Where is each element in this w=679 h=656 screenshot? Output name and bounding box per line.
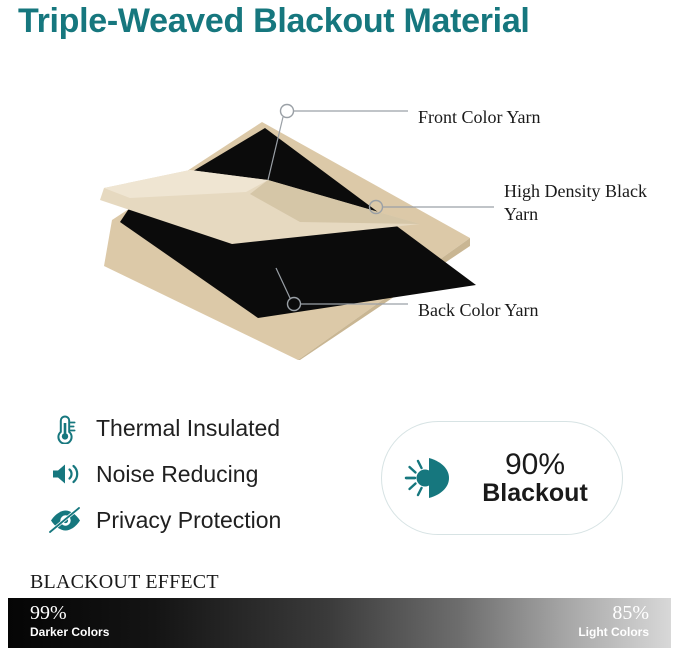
feature-label-thermal: Thermal Insulated bbox=[96, 415, 280, 442]
fabric-layers-diagram: Front Color Yarn High Density Black Yarn… bbox=[0, 70, 679, 360]
blackout-effect-left: 99% Darker Colors bbox=[30, 602, 109, 639]
light-colors-percent: 85% bbox=[578, 602, 649, 625]
darker-colors-label: Darker Colors bbox=[30, 625, 109, 639]
feature-list: Thermal Insulated Noise Reducing bbox=[48, 405, 378, 543]
blackout-effect-heading: BLACKOUT EFFECT bbox=[30, 571, 219, 594]
blackout-badge-text: 90% Blackout bbox=[456, 449, 622, 508]
blackout-effect-bar: 99% Darker Colors 85% Light Colors bbox=[8, 598, 671, 648]
blackout-badge: 90% Blackout bbox=[381, 421, 623, 535]
callout-label-back: Back Color Yarn bbox=[418, 299, 539, 322]
sun-blocking-icon bbox=[398, 449, 456, 507]
front-callout-dot bbox=[281, 105, 294, 118]
eye-slash-icon bbox=[48, 503, 82, 537]
feature-item-thermal: Thermal Insulated bbox=[48, 405, 378, 451]
callout-label-front: Front Color Yarn bbox=[418, 106, 541, 129]
darker-colors-percent: 99% bbox=[30, 602, 109, 625]
feature-label-privacy: Privacy Protection bbox=[96, 507, 281, 534]
callout-label-high-density: High Density Black Yarn bbox=[504, 180, 654, 225]
blackout-word: Blackout bbox=[482, 479, 588, 507]
infographic-page: Triple-Weaved Blackout Material bbox=[0, 0, 679, 656]
blackout-effect-right: 85% Light Colors bbox=[578, 602, 649, 639]
page-title: Triple-Weaved Blackout Material bbox=[18, 2, 663, 41]
feature-label-noise: Noise Reducing bbox=[96, 461, 258, 488]
feature-item-privacy: Privacy Protection bbox=[48, 497, 378, 543]
feature-item-noise: Noise Reducing bbox=[48, 451, 378, 497]
thermometer-icon bbox=[48, 411, 82, 445]
speaker-sound-icon bbox=[48, 457, 82, 491]
light-colors-label: Light Colors bbox=[578, 625, 649, 639]
blackout-percent: 90% bbox=[505, 448, 565, 481]
